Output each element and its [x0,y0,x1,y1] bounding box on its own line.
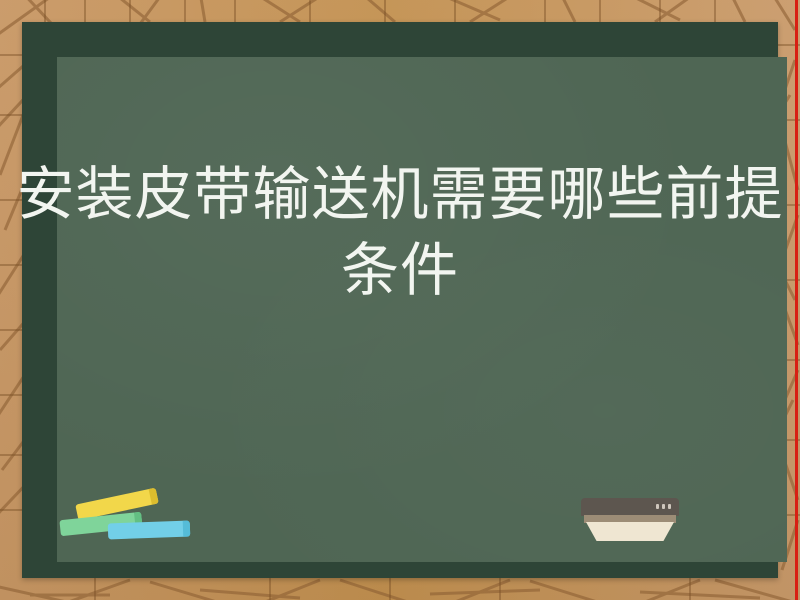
eraser-dot [656,504,659,509]
eraser-band [584,515,676,523]
yellow-chalk-tip [149,488,159,505]
eraser-dot [668,504,671,509]
red-edge-line [795,0,798,600]
eraser-felt [586,522,674,541]
blue-chalk-stick [108,521,191,540]
chalk-group [58,490,198,550]
title-line-2: 条件 [341,233,459,309]
eraser-handle [581,498,679,516]
blue-chalk-tip [183,521,191,537]
board-title: 安装皮带输送机需要哪些前提 条件 [35,35,765,540]
eraser-grip-dots [656,504,671,509]
blackboard-eraser [578,498,682,542]
eraser-dot [662,504,665,509]
chalkboard-scene: 安装皮带输送机需要哪些前提 条件 [0,0,800,600]
title-line-1: 安装皮带输送机需要哪些前提 [17,157,784,233]
